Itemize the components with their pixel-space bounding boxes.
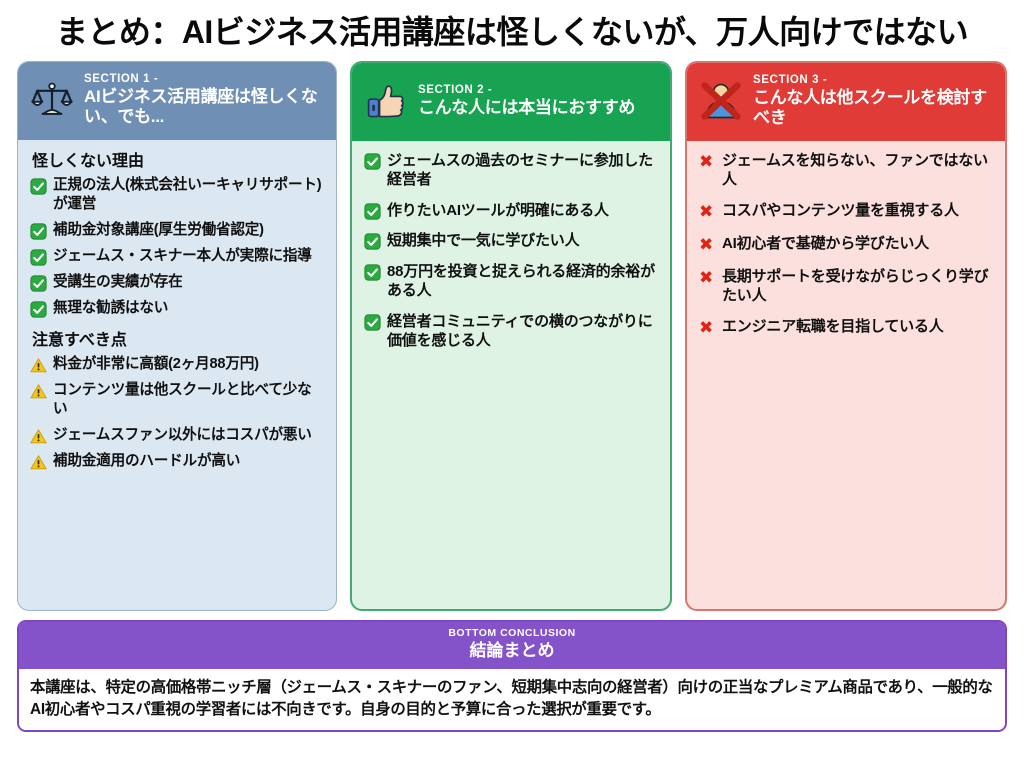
list-item: ジェームス・スキナー本人が実際に指導: [30, 247, 324, 266]
section-1-group-1-subhead: 怪しくない理由: [32, 152, 324, 171]
sections-container: SECTION 1 - AIビジネス活用講座は怪しくない、でも... 怪しくない…: [0, 61, 1024, 611]
list-item: 経営者コミュニティでの横のつながりに価値を感じる人: [364, 312, 658, 351]
list-item-text: コスパやコンテンツ量を重視する人: [722, 201, 993, 221]
cross-icon: ✖: [699, 267, 716, 289]
list-item: 無理な勧誘はない: [30, 299, 324, 318]
list-item: ジェームスの過去のセミナーに参加した経営者: [364, 151, 658, 190]
list-item-text: AI初心者で基礎から学びたい人: [722, 234, 993, 254]
list-item-text: ジェームスの過去のセミナーに参加した経営者: [387, 151, 658, 190]
check-icon: [364, 314, 381, 331]
list-item: 88万円を投資と捉えられる経済的余裕がある人: [364, 262, 658, 301]
list-item-text: 無理な勧誘はない: [53, 299, 324, 318]
check-icon: [364, 153, 381, 170]
section-1-cautions-list: 料金が非常に高額(2ヶ月88万円) コンテンツ量は他スクールと比べて少ない ジェ…: [30, 355, 324, 471]
conclusion-title: 結論まとめ: [25, 640, 999, 661]
thumbs-up-icon: [364, 79, 408, 123]
list-item-text: ジェームスを知らない、ファンではない人: [722, 151, 993, 190]
cross-icon: ✖: [699, 151, 716, 173]
check-icon: [364, 233, 381, 250]
list-item: 作りたいAIツールが明確にある人: [364, 201, 658, 221]
list-item-text: 受講生の実績が存在: [53, 273, 324, 292]
section-2-header: SECTION 2 - こんな人には本当におすすめ: [352, 63, 670, 141]
warning-icon: [30, 428, 47, 445]
check-icon: [30, 275, 47, 292]
cross-icon: ✖: [699, 234, 716, 256]
list-item: ✖ コスパやコンテンツ量を重視する人: [699, 201, 993, 223]
check-icon: [30, 178, 47, 195]
section-1-title: AIビジネス活用講座は怪しくない、でも...: [84, 87, 324, 127]
list-item: ✖ 長期サポートを受けながらじっくり学びたい人: [699, 267, 993, 306]
no-person-icon: [699, 79, 743, 123]
section-card-1: SECTION 1 - AIビジネス活用講座は怪しくない、でも... 怪しくない…: [17, 61, 337, 611]
check-icon: [364, 203, 381, 220]
list-item: ✖ エンジニア転職を目指している人: [699, 317, 993, 339]
section-1-group-2-subhead: 注意すべき点: [32, 331, 324, 350]
list-item: コンテンツ量は他スクールと比べて少ない: [30, 381, 324, 419]
list-item-text: コンテンツ量は他スクールと比べて少ない: [53, 381, 324, 419]
list-item-text: 正規の法人(株式会社いーキャリサポート)が運営: [53, 176, 324, 214]
check-icon: [30, 249, 47, 266]
section-3-body: ✖ ジェームスを知らない、ファンではない人 ✖ コスパやコンテンツ量を重視する人…: [687, 141, 1005, 609]
list-item-text: 料金が非常に高額(2ヶ月88万円): [53, 355, 324, 374]
section-3-header: SECTION 3 - こんな人は他スクールを検討すべき: [687, 63, 1005, 141]
section-3-avoid-list: ✖ ジェームスを知らない、ファンではない人 ✖ コスパやコンテンツ量を重視する人…: [699, 151, 993, 339]
check-icon: [30, 301, 47, 318]
cross-icon: ✖: [699, 317, 716, 339]
list-item: ジェームスファン以外にはコスパが悪い: [30, 426, 324, 445]
check-icon: [364, 264, 381, 281]
section-card-3: SECTION 3 - こんな人は他スクールを検討すべき ✖ ジェームスを知らな…: [685, 61, 1007, 611]
list-item: 受講生の実績が存在: [30, 273, 324, 292]
conclusion-text: 本講座は、特定の高価格帯ニッチ層（ジェームス・スキナーのファン、短期集中志向の経…: [19, 669, 1005, 731]
list-item: 短期集中で一気に学びたい人: [364, 231, 658, 251]
section-card-2: SECTION 2 - こんな人には本当におすすめ ジェームスの過去のセミナーに…: [350, 61, 672, 611]
conclusion-kicker: BOTTOM CONCLUSION: [25, 626, 999, 641]
list-item-text: 長期サポートを受けながらじっくり学びたい人: [722, 267, 993, 306]
list-item: 補助金適用のハードルが高い: [30, 452, 324, 471]
list-item-text: 経営者コミュニティでの横のつながりに価値を感じる人: [387, 312, 658, 351]
section-1-reasons-list: 正規の法人(株式会社いーキャリサポート)が運営 補助金対象講座(厚生労働省認定)…: [30, 176, 324, 318]
cross-icon: ✖: [699, 201, 716, 223]
list-item-text: 作りたいAIツールが明確にある人: [387, 201, 658, 221]
warning-icon: [30, 383, 47, 400]
balance-scale-icon: [30, 78, 74, 122]
section-2-title: こんな人には本当におすすめ: [418, 98, 635, 118]
section-3-kicker: SECTION 3 -: [753, 73, 993, 88]
section-1-body: 怪しくない理由 正規の法人(株式会社いーキャリサポート)が運営 補助金対象講座(…: [18, 140, 336, 610]
section-3-title: こんな人は他スクールを検討すべき: [753, 88, 993, 128]
list-item: 補助金対象講座(厚生労働省認定): [30, 221, 324, 240]
warning-icon: [30, 454, 47, 471]
section-1-header: SECTION 1 - AIビジネス活用講座は怪しくない、でも...: [18, 62, 336, 140]
list-item-text: ジェームス・スキナー本人が実際に指導: [53, 247, 324, 266]
conclusion-panel: BOTTOM CONCLUSION 結論まとめ 本講座は、特定の高価格帯ニッチ層…: [17, 620, 1007, 733]
section-2-kicker: SECTION 2 -: [418, 83, 635, 98]
list-item-text: エンジニア転職を目指している人: [722, 317, 993, 337]
list-item-text: 補助金適用のハードルが高い: [53, 452, 324, 471]
list-item: ✖ ジェームスを知らない、ファンではない人: [699, 151, 993, 190]
list-item-text: 短期集中で一気に学びたい人: [387, 231, 658, 251]
infographic-page: まとめ：AIビジネス活用講座は怪しくないが、万人向けではない: [0, 0, 1024, 765]
list-item: 正規の法人(株式会社いーキャリサポート)が運営: [30, 176, 324, 214]
list-item-text: 88万円を投資と捉えられる経済的余裕がある人: [387, 262, 658, 301]
list-item-text: 補助金対象講座(厚生労働省認定): [53, 221, 324, 240]
check-icon: [30, 223, 47, 240]
conclusion-header: BOTTOM CONCLUSION 結論まとめ: [19, 622, 1005, 669]
section-2-body: ジェームスの過去のセミナーに参加した経営者 作りたいAIツールが明確にある人 短…: [352, 141, 670, 609]
list-item-text: ジェームスファン以外にはコスパが悪い: [53, 426, 324, 445]
list-item: 料金が非常に高額(2ヶ月88万円): [30, 355, 324, 374]
section-2-recommend-list: ジェームスの過去のセミナーに参加した経営者 作りたいAIツールが明確にある人 短…: [364, 151, 658, 351]
list-item: ✖ AI初心者で基礎から学びたい人: [699, 234, 993, 256]
page-title: まとめ：AIビジネス活用講座は怪しくないが、万人向けではない: [0, 0, 1024, 61]
warning-icon: [30, 357, 47, 374]
section-1-kicker: SECTION 1 -: [84, 72, 324, 87]
